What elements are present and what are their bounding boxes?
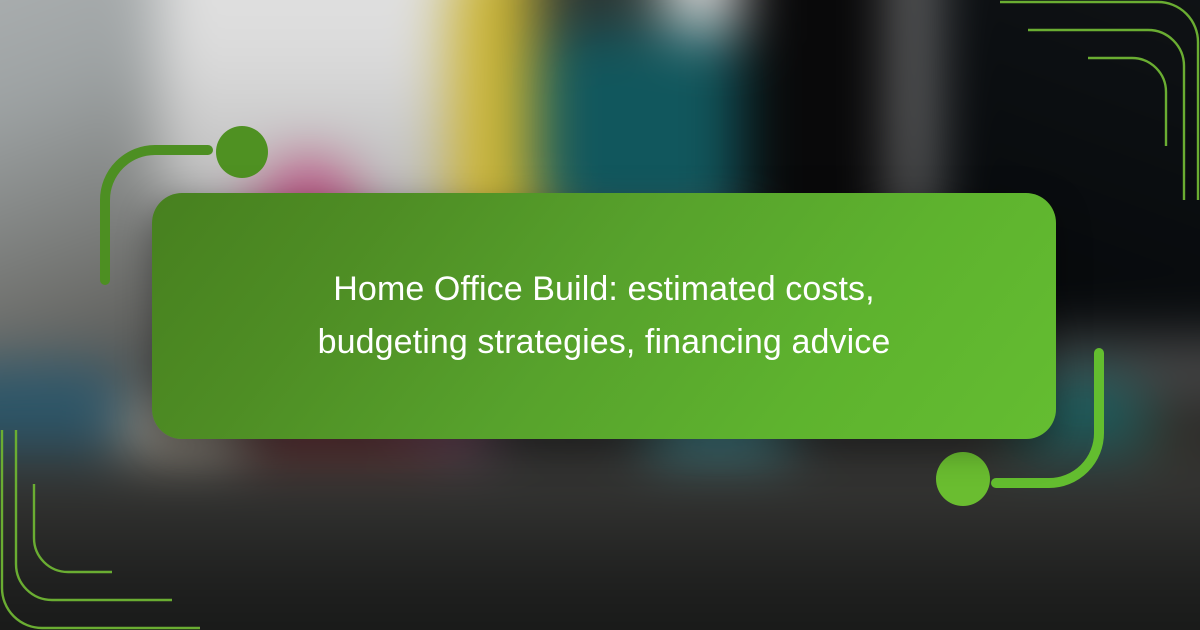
background-blob-blue-box [0,364,125,461]
accent-dot-bottom-right [936,452,990,506]
hero-card: Home Office Build: estimated costs, budg… [152,193,1056,439]
banner-canvas: Home Office Build: estimated costs, budg… [0,0,1200,630]
page-title: Home Office Build: estimated costs, budg… [284,263,924,368]
accent-dot-top-left [216,126,268,178]
